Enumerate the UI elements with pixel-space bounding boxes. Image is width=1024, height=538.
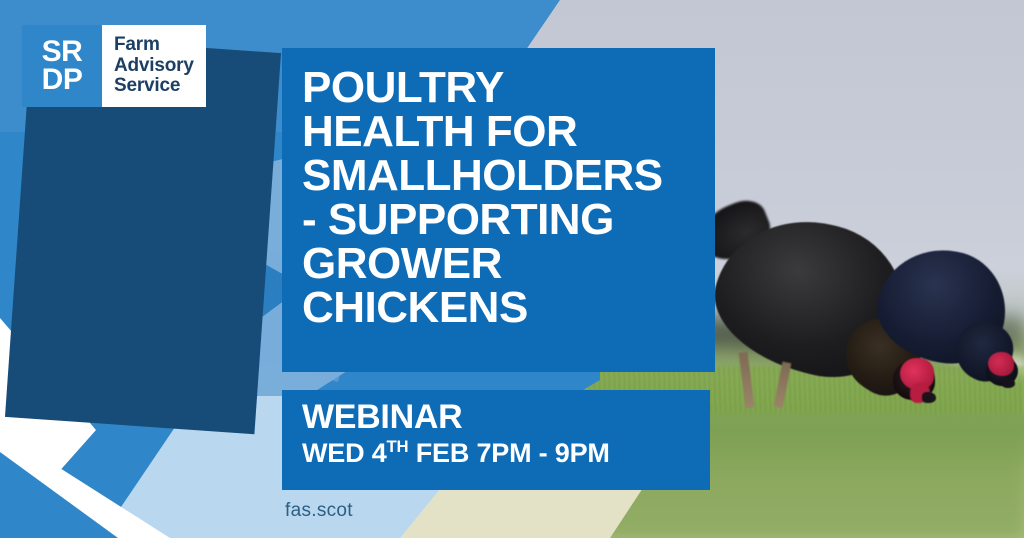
srdp-logo-line-2-text: DP [42, 63, 83, 96]
event-details-panel: WEBINAR WED 4TH FEB 7PM - 9PM [282, 390, 710, 490]
title-line-3: SMALLHOLDERS [302, 154, 695, 198]
srdp-logo-mark: SR DP [22, 25, 102, 107]
srdp-farm-advisory-service-logo[interactable]: SR DP Farm Advisory Service [22, 25, 206, 107]
title-line-1: POULTRY [302, 66, 695, 110]
fas-line-service: Service [114, 76, 194, 97]
event-date-prefix: WED 4 [302, 438, 387, 468]
event-date-ordinal: TH [387, 437, 409, 456]
event-type-label: WEBINAR [302, 400, 690, 436]
title-line-5: GROWER [302, 242, 695, 286]
event-date-suffix: FEB 7PM - 9PM [408, 438, 609, 468]
fas-line-farm: Farm [114, 35, 194, 56]
title-line-6: CHICKENS [302, 286, 695, 330]
hen-background-comb [988, 352, 1014, 376]
event-date-line: WED 4TH FEB 7PM - 9PM [302, 438, 690, 469]
hen-background-beak [1002, 378, 1015, 388]
srdp-logo-line-2: DP [42, 66, 83, 94]
srdp-logo-line-1: SR [42, 38, 83, 66]
title-line-4: - SUPPORTING [302, 198, 695, 242]
farm-advisory-service-wordmark: Farm Advisory Service [102, 25, 206, 107]
title-panel: POULTRY HEALTH FOR SMALLHOLDERS - SUPPOR… [282, 48, 715, 372]
website-url[interactable]: fas.scot [285, 500, 353, 522]
title-line-2: HEALTH FOR [302, 110, 695, 154]
poster-canvas: SR DP Farm Advisory Service POULTRY HEAL… [0, 0, 1024, 538]
hen-foreground-beak [922, 392, 936, 403]
fas-line-advisory: Advisory [114, 56, 194, 77]
